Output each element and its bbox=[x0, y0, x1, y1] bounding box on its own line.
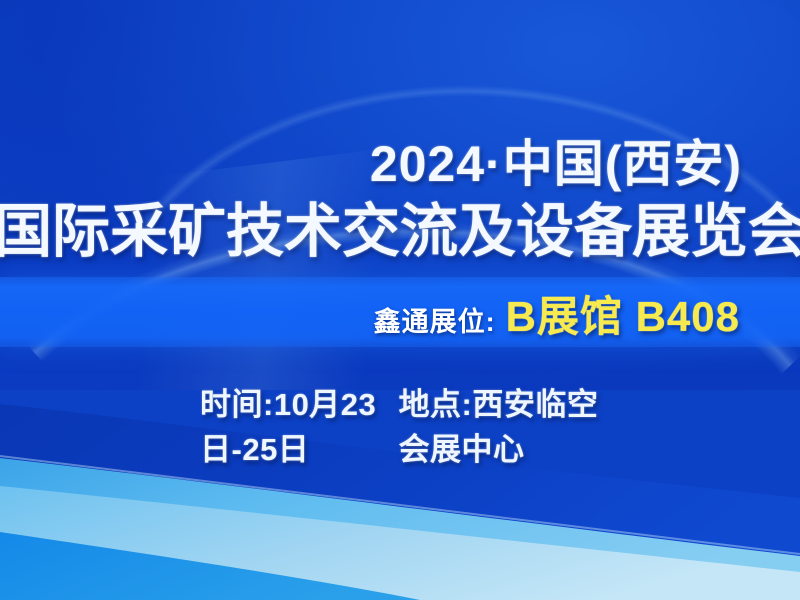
page-title-line-2: 国际采矿技术交流及设备展览会 bbox=[0, 184, 800, 268]
event-date: 时间:10月23日-25日 bbox=[200, 379, 377, 469]
exhibition-banner: 2024·中国(西安) 国际采矿技术交流及设备展览会 鑫通展位: B展馆 B40… bbox=[0, 0, 800, 600]
event-info-row: 时间:10月23日-25日 地点:西安临空会展中心 bbox=[200, 379, 600, 469]
booth-number: B展馆 B408 bbox=[506, 283, 740, 344]
booth-label: 鑫通展位: bbox=[374, 300, 496, 339]
event-venue: 地点:西安临空会展中心 bbox=[399, 379, 600, 469]
booth-info-row: 鑫通展位: B展馆 B408 bbox=[374, 283, 740, 344]
